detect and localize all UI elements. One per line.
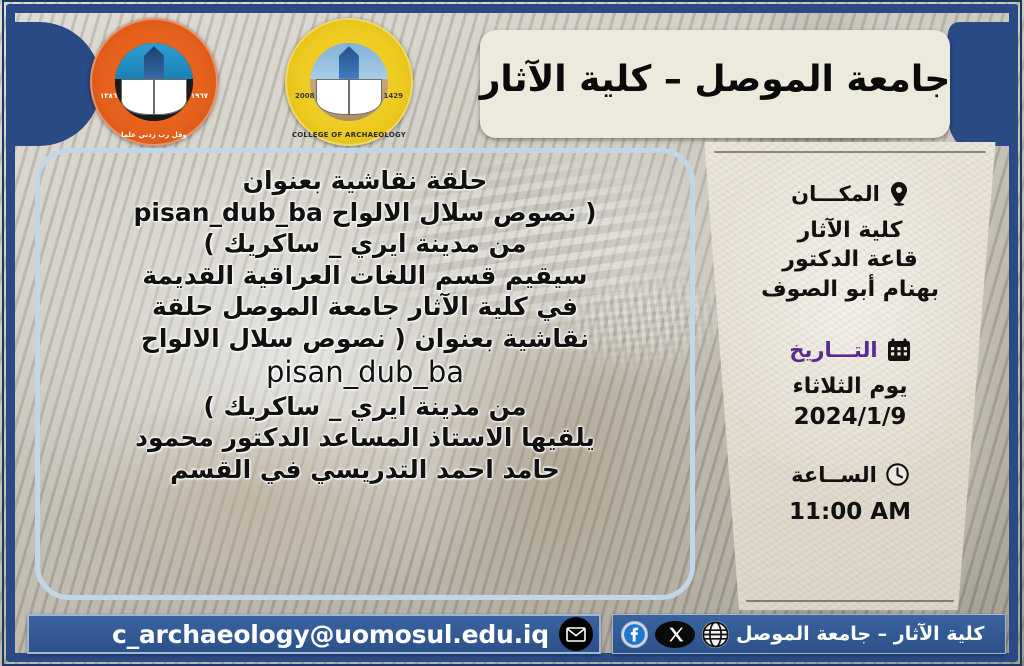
college-of-archaeology-logo: 2008 1429 COLLEGE OF ARCHAEOLOGY (285, 18, 413, 146)
clock-icon (886, 463, 909, 486)
body-line: نقاشية بعنوان ( نصوص سلال الالواح (141, 323, 589, 355)
logo-caption: COLLEGE OF ARCHAEOLOGY (285, 131, 413, 139)
event-poster: ١٣٨٦ ١٩٦٧ وقل رب زدني علما 2008 1429 COL… (0, 0, 1024, 666)
body-line-latin: pisan_dub_ba (266, 354, 464, 391)
time-label: الســاعة (791, 463, 877, 487)
body-line: حلقة نقاشية بعنوان (243, 165, 488, 197)
date-heading: التـــاريخ (789, 338, 910, 362)
logo-crest (115, 43, 193, 121)
date-value: 2024/1/9 (794, 402, 907, 433)
event-details-panel: المكـــان كلية الآثار قاعة الدكتور بهنام… (700, 142, 1000, 610)
logo-caption: وقل رب زدني علما (90, 131, 218, 139)
logo-year-right: ١٩٦٧ (191, 92, 208, 100)
body-line: حامد احمد التدريسي في القسم (170, 454, 560, 486)
organization-name: كلية الآثار – جامعة الموصل (736, 623, 984, 645)
body-line: يلقيها الاستاذ المساعد الدكتور محمود (135, 422, 595, 454)
page-title: جامعة الموصل – كلية الآثار (480, 59, 951, 100)
envelope-icon (559, 617, 593, 651)
crest-open-book (316, 79, 382, 115)
header-title-pill: جامعة الموصل – كلية الآثار (480, 30, 950, 138)
date-day: يوم الثلاثاء (792, 372, 907, 401)
crest-open-book (121, 79, 187, 115)
location-value-line: كلية الآثار (798, 216, 903, 245)
globe-icon[interactable] (702, 621, 729, 648)
logo-year-left: ١٣٨٦ (100, 92, 117, 100)
calendar-icon (887, 338, 911, 362)
announcement-text-card: حلقة نقاشية بعنوان ( نصوص سلال الالواح p… (35, 148, 695, 600)
location-value-line: بهنام أبو الصوف (761, 275, 939, 304)
body-line: ( نصوص سلال الالواح pisan_dub_ba (133, 197, 596, 229)
logo-crest (310, 43, 388, 121)
map-pin-icon (889, 182, 909, 206)
body-line: من مدينة ايري _ ساكريك ) (203, 228, 526, 260)
date-label: التـــاريخ (789, 338, 877, 362)
time-heading: الســاعة (791, 463, 909, 487)
facebook-icon[interactable] (621, 621, 648, 648)
body-line: من مدينة ايري _ ساكريك ) (203, 391, 526, 423)
x-twitter-icon[interactable] (655, 621, 695, 648)
logo-year-right: 1429 (384, 92, 403, 100)
email-address[interactable]: c_archaeology@uomosul.edu.iq (112, 620, 549, 649)
logo-year-left: 2008 (295, 92, 314, 100)
body-line: في كلية الآثار جامعة الموصل حلقة (152, 291, 578, 323)
email-bar[interactable]: c_archaeology@uomosul.edu.iq (27, 614, 601, 654)
body-line: سيقيم قسم اللغات العراقية القديمة (142, 260, 587, 292)
university-of-mosul-logo: ١٣٨٦ ١٩٦٧ وقل رب زدني علما (90, 18, 218, 146)
org-social-bar: كلية الآثار – جامعة الموصل (612, 614, 1006, 654)
location-heading: المكـــان (791, 182, 909, 206)
time-value: 11:00 AM (789, 497, 911, 528)
location-value-line: قاعة الدكتور (782, 245, 917, 274)
location-label: المكـــان (791, 182, 880, 206)
